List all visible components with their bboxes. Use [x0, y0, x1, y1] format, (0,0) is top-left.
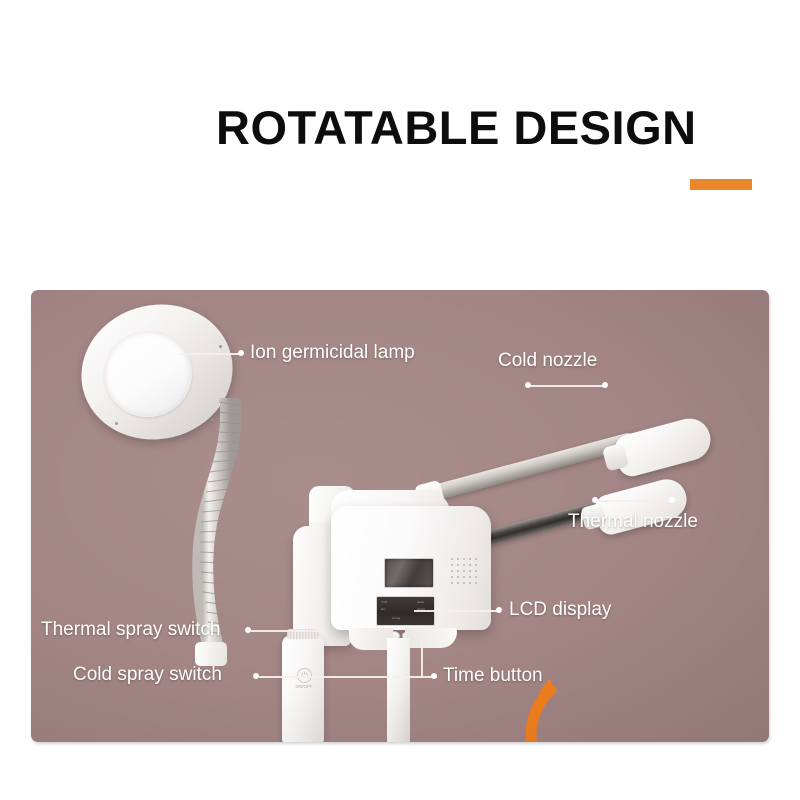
- page-title: ROTATABLE DESIGN: [216, 104, 697, 151]
- leader-cold-nozzle: [529, 385, 605, 387]
- stand-column: [387, 638, 410, 742]
- leader-dot-ion-lamp: [238, 350, 244, 356]
- infographic-page: ROTATABLE DESIGN: [0, 0, 800, 800]
- leader-dot-lcd-display: [496, 607, 502, 613]
- vent-grille-icon: [451, 558, 486, 588]
- leader-thermal-nozzle: [596, 500, 672, 502]
- title-accent-bar: [690, 179, 752, 190]
- leader-dot-thermal-nozzle-left: [592, 497, 598, 503]
- leader-dot-time-button: [431, 673, 437, 679]
- leader-cold-spray-switch: [259, 676, 389, 678]
- gooseneck-collar: [195, 642, 227, 666]
- panel-line-cold: Cold: [381, 601, 387, 604]
- callout-thermal-spray-switch: Thermal spray switch: [41, 620, 221, 639]
- lcd-display-window: [384, 558, 434, 588]
- callout-ion-germicidal-lamp: Ion germicidal lamp: [250, 343, 415, 362]
- callout-cold-nozzle: Cold nozzle: [498, 351, 597, 370]
- product-photo-panel: Cold Hot warm ozone timing ⏻ ON/OFF I: [31, 290, 769, 742]
- lamp-screw-icon: [115, 422, 118, 425]
- lamp-screw-icon: [103, 323, 106, 326]
- leader-time-button-vert: [421, 639, 423, 677]
- cold-nozzle-arm: [421, 431, 638, 503]
- header: ROTATABLE DESIGN: [0, 0, 800, 270]
- gooseneck-arm: [190, 398, 254, 648]
- callout-thermal-nozzle: Thermal nozzle: [568, 512, 698, 531]
- leader-ion-lamp: [179, 353, 241, 355]
- callout-time-button: Time button: [443, 666, 543, 685]
- leader-dot-thermal-nozzle-right: [669, 497, 675, 503]
- power-label: ON/OFF: [290, 684, 318, 689]
- panel-line-hot: Hot: [381, 608, 386, 611]
- leader-dot-cold-nozzle-left: [525, 382, 531, 388]
- panel-line-timing: timing: [392, 617, 400, 620]
- callout-lcd-display: LCD display: [509, 600, 611, 619]
- leader-lcd-display: [414, 610, 501, 612]
- callout-cold-spray-switch: Cold spray switch: [73, 665, 222, 684]
- cold-nozzle-tip: [612, 414, 716, 479]
- lamp-screw-icon: [219, 345, 222, 348]
- leader-dot-cold-nozzle-right: [602, 382, 608, 388]
- stand-arm-right: [405, 628, 457, 648]
- panel-line-warm: warm: [417, 601, 424, 604]
- leader-thermal-spray-switch: [251, 630, 321, 632]
